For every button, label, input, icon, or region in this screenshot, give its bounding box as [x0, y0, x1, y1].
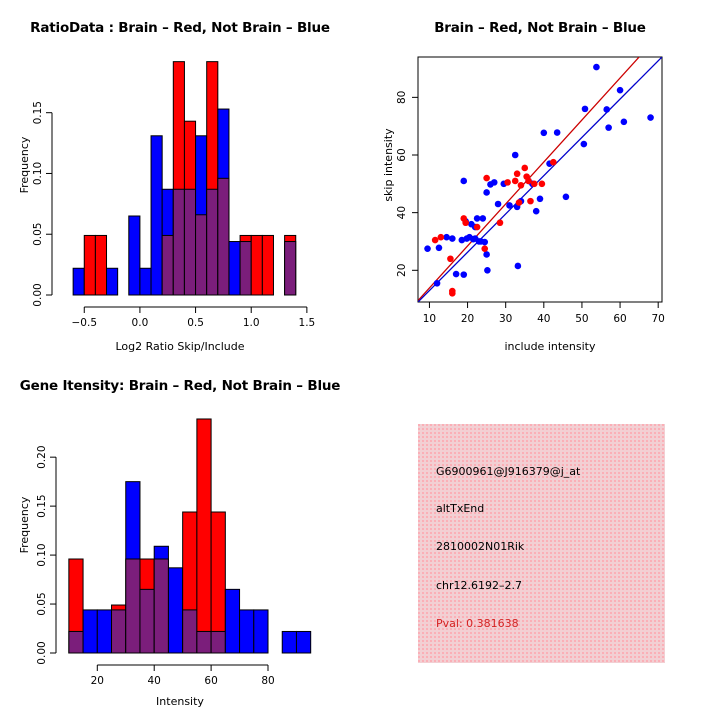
- hist-bar-overlap: [112, 610, 126, 653]
- scatter-point: [581, 141, 588, 148]
- scatter-point: [514, 170, 521, 177]
- info-gene-symbol: 2810002N01Rik: [436, 540, 524, 553]
- scatter-point: [512, 152, 519, 159]
- x-tick-label: 30: [499, 313, 512, 325]
- scatter-point: [518, 182, 525, 189]
- scatter-point: [533, 208, 540, 215]
- x-tick-label: 60: [613, 313, 626, 325]
- y-tick-label: 0.10: [32, 162, 44, 185]
- ratio-hist-canvas: 0.000.050.100.15−0.50.00.51.01.5: [0, 0, 360, 365]
- scatter-point: [563, 193, 570, 200]
- x-tick-label: 70: [652, 313, 665, 325]
- hist-bar: [240, 610, 254, 653]
- hist-bar-overlap: [196, 215, 207, 295]
- r-multipanel-figure: RatioData : Brain – Red, Not Brain – Blu…: [0, 0, 720, 720]
- hist-bar-overlap: [285, 242, 296, 295]
- scatter-point: [603, 106, 610, 113]
- scatter-point: [537, 196, 544, 203]
- hist-bar: [73, 268, 84, 295]
- scatter-point: [480, 215, 487, 222]
- hist-bar: [251, 235, 262, 295]
- scatter-point: [449, 288, 456, 295]
- y-tick-label: 0.10: [36, 543, 48, 566]
- hist-bar-overlap: [184, 189, 195, 295]
- y-tick-label: 0.00: [36, 641, 48, 664]
- hist-bar-overlap: [211, 631, 225, 653]
- scatter-point: [460, 271, 467, 278]
- info-locus: chr12.6192–2.7: [436, 579, 522, 592]
- x-tick-label: 20: [91, 675, 104, 687]
- scatter-point: [512, 178, 519, 185]
- hist-bar-overlap: [69, 631, 83, 653]
- hist-bar: [229, 242, 240, 295]
- scatter-point: [504, 179, 511, 186]
- scatter-point: [474, 224, 481, 231]
- hist-bar-overlap: [183, 610, 197, 653]
- hist-bar-overlap: [218, 178, 229, 295]
- y-tick-label: 20: [396, 264, 408, 277]
- scatter-point: [483, 175, 490, 182]
- hist-bar: [140, 268, 151, 295]
- scatter-point: [481, 239, 488, 246]
- x-tick-label: 10: [423, 313, 436, 325]
- scatter-point: [525, 178, 532, 185]
- y-tick-label: 0.00: [32, 283, 44, 306]
- scatter-point: [621, 119, 628, 126]
- scatter-point: [453, 271, 460, 278]
- panel-scatter: Brain – Red, Not Brain – Blue include in…: [360, 0, 720, 365]
- fit-line-not-brain-fit: [418, 57, 662, 302]
- hist-bar-overlap: [162, 235, 173, 295]
- scatter-point: [495, 201, 502, 208]
- x-tick-label: 40: [537, 313, 550, 325]
- hist-bar: [129, 216, 140, 295]
- scatter-point: [516, 199, 523, 206]
- x-tick-label: 0.5: [187, 317, 204, 329]
- scatter-point: [462, 219, 469, 226]
- scatter-point: [483, 251, 490, 258]
- x-tick-label: 60: [204, 675, 217, 687]
- hist-bar: [197, 419, 211, 653]
- hist-bar: [95, 235, 106, 295]
- scatter-point: [449, 235, 456, 242]
- info-probe-id: G6900961@J916379@j_at: [436, 465, 580, 478]
- scatter-point: [491, 179, 498, 186]
- scatter-point: [550, 159, 557, 166]
- scatter-point: [539, 181, 546, 188]
- hist-bar: [151, 136, 162, 295]
- scatter-point: [443, 234, 450, 241]
- gene-hist-canvas: 0.000.050.100.150.2020406080: [0, 365, 360, 720]
- scatter-point: [434, 280, 441, 287]
- x-tick-label: 40: [148, 675, 161, 687]
- hist-bar: [296, 631, 310, 653]
- y-tick-label: 0.20: [36, 445, 48, 468]
- scatter-point: [521, 165, 528, 172]
- scatter-point: [647, 114, 654, 121]
- gene-info-panel: G6900961@J916379@j_at altTxEnd 2810002N0…: [418, 424, 665, 663]
- hist-bar-overlap: [154, 559, 168, 653]
- scatter-point: [481, 245, 488, 252]
- scatter-point: [432, 237, 439, 244]
- scatter-point: [424, 245, 431, 252]
- hist-bar-overlap: [173, 189, 184, 295]
- hist-bar-overlap: [126, 559, 140, 653]
- hist-bar: [168, 568, 182, 653]
- scatter-point: [483, 189, 490, 196]
- scatter-point: [541, 130, 548, 137]
- panel-ratio-histogram: RatioData : Brain – Red, Not Brain – Blu…: [0, 0, 360, 365]
- hist-bar: [262, 235, 273, 295]
- hist-bar: [84, 235, 95, 295]
- info-event-type: altTxEnd: [436, 502, 484, 515]
- hist-bar: [225, 589, 239, 653]
- hist-bar: [107, 268, 118, 295]
- info-pval: Pval: 0.381638: [436, 617, 519, 630]
- scatter-content: [418, 57, 662, 302]
- x-tick-label: 20: [461, 313, 474, 325]
- hist-bar-overlap: [207, 189, 218, 295]
- scatter-point: [582, 106, 589, 113]
- x-tick-label: 80: [261, 675, 274, 687]
- scatter-point: [447, 255, 454, 262]
- scatter-point: [531, 181, 538, 188]
- y-tick-label: 0.15: [36, 494, 48, 517]
- y-tick-label: 0.05: [32, 223, 44, 246]
- scatter-point: [460, 178, 467, 185]
- scatter-point: [506, 202, 513, 209]
- y-tick-label: 0.05: [36, 592, 48, 615]
- x-tick-label: −0.5: [72, 317, 98, 329]
- hist-bar-overlap: [240, 242, 251, 295]
- hist-bar: [83, 610, 97, 653]
- scatter-point: [593, 64, 600, 71]
- scatter-point: [605, 124, 612, 131]
- panel-gene-histogram: Gene Itensity: Brain – Red, Not Brain – …: [0, 365, 360, 720]
- y-tick-label: 80: [396, 91, 408, 104]
- x-tick-label: 1.5: [299, 317, 316, 329]
- hist-bar: [97, 610, 111, 653]
- y-tick-label: 0.15: [32, 101, 44, 124]
- scatter-point: [436, 245, 443, 252]
- scatter-point: [527, 198, 534, 205]
- scatter-point: [474, 215, 481, 222]
- hist-bar: [254, 610, 268, 653]
- hist-bar-overlap: [140, 589, 154, 653]
- scatter-canvas: 1020304050607020406080: [360, 0, 720, 365]
- hist-bar: [282, 631, 296, 653]
- x-tick-label: 0.0: [132, 317, 149, 329]
- x-tick-label: 1.0: [243, 317, 260, 329]
- y-tick-label: 60: [396, 148, 408, 161]
- scatter-point: [617, 87, 624, 94]
- scatter-point: [438, 234, 445, 241]
- x-tick-label: 50: [575, 313, 588, 325]
- scatter-point: [484, 267, 491, 274]
- hist-bar-overlap: [197, 631, 211, 653]
- scatter-point: [515, 263, 522, 270]
- scatter-point: [497, 219, 504, 226]
- y-tick-label: 40: [396, 206, 408, 219]
- scatter-point: [554, 129, 561, 136]
